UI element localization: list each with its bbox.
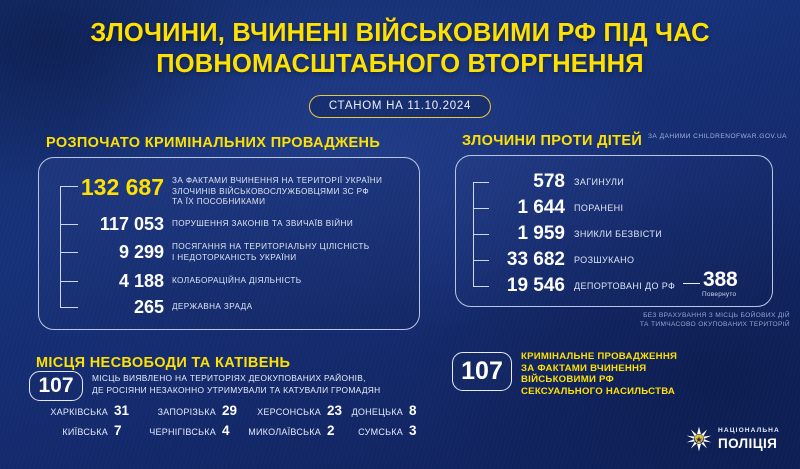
region-value: 4 [222, 424, 239, 438]
region-item: Миколаївська 2 [239, 424, 344, 438]
region-item: Херсонська 23 [239, 404, 344, 418]
police-logo-text: НАЦІОНАЛЬНА ПОЛІЦІЯ [718, 428, 780, 450]
proceedings-heading: РОЗПОЧАТО КРИМІНАЛЬНИХ ПРОВАДЖЕНЬ [46, 135, 380, 151]
logo-line-2: ПОЛІЦІЯ [718, 437, 780, 451]
region-value: 31 [114, 404, 131, 418]
detention-count-badge: 107 [29, 371, 83, 401]
region-value: 29 [222, 404, 239, 418]
children-value-3: 33 682 [489, 250, 565, 269]
region-name: Херсонська [257, 407, 321, 417]
region-value: 2 [327, 424, 344, 438]
police-badge-icon [686, 426, 712, 452]
title-line-2: ПОВНОМАСШТАБНОГО ВТОРГНЕННЯ [0, 49, 800, 80]
detention-description: МІСЦЬ ВИЯВЛЕНО НА ТЕРИТОРІЯХ ДЕОКУПОВАНИ… [92, 372, 380, 396]
region-name: Харківська [50, 407, 108, 417]
region-value: 23 [327, 404, 344, 418]
children-value-0: 578 [489, 172, 565, 191]
region-item: Київська 7 [26, 424, 131, 438]
date-badge: СТАНОМ НА 11.10.2024 [309, 95, 491, 118]
proceedings-tick-2 [60, 252, 78, 253]
proceedings-tick-3 [60, 281, 78, 282]
proceedings-tick-0 [60, 186, 78, 187]
returned-label: Повернуто [702, 291, 736, 298]
regions-list: Харківська 31 Запорізька 29 Херсонська 2… [26, 404, 426, 444]
proceedings-value-0: 132 687 [78, 176, 164, 199]
proceedings-label-0: ЗА ФАКТАМИ ВЧИНЕННЯ НА ТЕРИТОРІЇ УКРАЇНИ… [172, 176, 422, 208]
children-footnote: БЕЗ ВРАХУВАННЯ З МІСЦЬ БОЙОВИХ ДІЙ ТА ТИ… [455, 311, 790, 329]
infographic-canvas: ЗЛОЧИНИ, ВЧИНЕНІ ВІЙСЬКОВИМИ РФ ПІД ЧАС … [0, 0, 800, 469]
proceedings-value-1: 117 053 [78, 215, 164, 233]
returned-value: 388 [703, 269, 737, 290]
proceedings-label-3: КОЛАБОРАЦІЙНА ДІЯЛЬНІСТЬ [172, 276, 422, 287]
page-title: ЗЛОЧИНИ, ВЧИНЕНІ ВІЙСЬКОВИМИ РФ ПІД ЧАС … [0, 18, 800, 80]
region-value: 7 [114, 424, 131, 438]
region-value: 3 [409, 424, 426, 438]
proceedings-value-4: 265 [78, 298, 164, 316]
children-tick-0 [473, 182, 489, 183]
children-value-4: 19 546 [489, 276, 565, 295]
children-source-note: ЗА ДАНИМИ CHILDRENOFWAR.GOV.UA [648, 132, 787, 141]
children-tick-1 [473, 208, 489, 209]
region-item: Чернігівська 4 [131, 424, 239, 438]
proceedings-label-2: ПОСЯГАННЯ НА ТЕРИТОРІАЛЬНУ ЦІЛІСНІСТЬ І … [172, 242, 422, 263]
returned-connector [683, 283, 700, 284]
children-label-0: ЗАГИНУЛИ [574, 177, 744, 188]
children-tick-4 [473, 286, 489, 287]
children-tick-3 [473, 260, 489, 261]
proceedings-value-3: 4 188 [78, 272, 164, 290]
detention-heading: МІСЦЯ НЕСВОБОДИ ТА КАТІВЕНЬ [36, 355, 290, 371]
proceedings-value-2: 9 299 [78, 243, 164, 261]
children-label-2: ЗНИКЛИ БЕЗВІСТИ [574, 229, 744, 240]
police-logo: НАЦІОНАЛЬНА ПОЛІЦІЯ [686, 426, 780, 452]
logo-line-1: НАЦІОНАЛЬНА [718, 428, 780, 435]
children-label-3: РОЗШУКАНО [574, 255, 744, 266]
region-name: Запорізька [158, 407, 216, 417]
sexual-violence-count-badge: 107 [452, 352, 512, 391]
children-value-2: 1 959 [489, 224, 565, 243]
children-label-1: ПОРАНЕНІ [574, 203, 744, 214]
proceedings-label-1: ПОРУШЕННЯ ЗАКОНІВ ТА ЗВИЧАЇВ ВІЙНИ [172, 219, 422, 230]
children-heading: ЗЛОЧИНИ ПРОТИ ДІТЕЙ [462, 133, 642, 149]
region-name: Київська [62, 427, 108, 437]
sexual-violence-description: КРИМІНАЛЬНЕ ПРОВАДЖЕННЯ ЗА ФАКТАМИ ВЧИНЕ… [521, 351, 677, 397]
region-item: Запорізька 29 [131, 404, 239, 418]
region-item: Харківська 31 [26, 404, 131, 418]
children-value-1: 1 644 [489, 198, 565, 217]
region-name: Донецька [352, 407, 403, 417]
region-name: Чернігівська [149, 427, 216, 437]
proceedings-tick-4 [60, 307, 78, 308]
title-line-1: ЗЛОЧИНИ, ВЧИНЕНІ ВІЙСЬКОВИМИ РФ ПІД ЧАС [0, 18, 800, 49]
region-item: Донецька 8 [344, 404, 426, 418]
proceedings-tick-1 [60, 224, 78, 225]
region-name: Сумська [358, 427, 403, 437]
region-item: Сумська 3 [344, 424, 426, 438]
region-name: Миколаївська [248, 427, 321, 437]
proceedings-label-4: ДЕРЖАВНА ЗРАДА [172, 302, 422, 313]
regions-row-1: Харківська 31 Запорізька 29 Херсонська 2… [26, 404, 426, 424]
children-tick-2 [473, 234, 489, 235]
regions-row-2: Київська 7 Чернігівська 4 Миколаївська 2… [26, 424, 426, 444]
region-value: 8 [409, 404, 426, 418]
